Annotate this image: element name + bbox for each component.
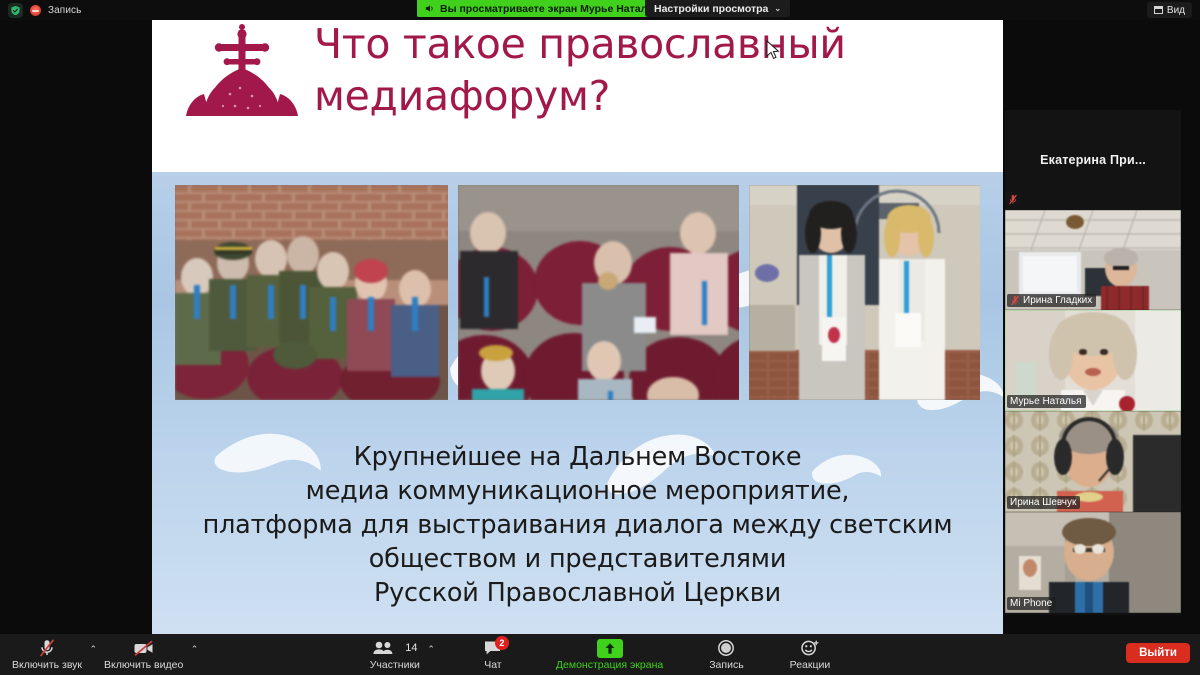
top-bar: Запись Вы просматриваете экран Мурье Нат… xyxy=(0,0,1200,20)
video-tile-label: Ирина Гладких xyxy=(1007,294,1096,307)
photo-audience-seats xyxy=(458,185,739,400)
share-screen-label: Демонстрация экрана xyxy=(556,659,663,671)
view-settings-button[interactable]: Настройки просмотра ⌄ xyxy=(645,0,790,17)
toolbar-center-group: 14 Участники ⌃ 2 Чат xyxy=(0,634,1200,675)
video-tile-label: Ирина Шевчук xyxy=(1007,496,1080,509)
leave-meeting-button[interactable]: Выйти xyxy=(1126,643,1190,663)
orthodox-cross-lotus-logo xyxy=(182,22,302,132)
slide-photo-row xyxy=(175,185,980,400)
video-tile-name: Ирина Гладких xyxy=(1023,295,1092,306)
chat-button[interactable]: 2 Чат xyxy=(470,634,516,675)
record-button[interactable]: Запись xyxy=(703,634,749,675)
chevron-down-icon: ⌄ xyxy=(774,4,781,13)
video-tile-ekaterina[interactable]: Екатерина При... xyxy=(1005,110,1181,210)
zoom-meeting-window: Запись Вы просматриваете экран Мурье Нат… xyxy=(0,0,1200,675)
mouse-pointer-icon xyxy=(766,40,780,60)
sharing-banner-text: Вы просматриваете экран Мурье Наталья xyxy=(440,3,660,15)
video-tile-name: Mi Phone xyxy=(1010,598,1052,609)
shared-screen-stage[interactable]: Что такое православный медиафорум? xyxy=(152,0,1003,634)
speaker-icon xyxy=(424,3,435,14)
people-icon: 14 xyxy=(372,639,417,658)
video-tile-name: Ирина Шевчук xyxy=(1010,497,1076,508)
video-tile-name: Екатерина При... xyxy=(1040,153,1146,167)
participant-video-strip[interactable]: Екатерина При... Ирина Гладких Мурье Нат… xyxy=(1005,110,1181,615)
microphone-muted-icon xyxy=(1006,192,1020,206)
record-dot-icon[interactable] xyxy=(30,5,41,16)
sharing-banner: Вы просматриваете экран Мурье Наталья xyxy=(417,0,669,17)
grid-view-icon xyxy=(1154,6,1163,14)
video-tile-label: Мурье Наталья xyxy=(1007,395,1086,408)
meeting-toolbar: Включить звук ⌃ Включить видео ⌃ xyxy=(0,634,1200,675)
reactions-button[interactable]: Реакции xyxy=(784,634,837,675)
record-label: Запись xyxy=(709,659,743,671)
video-tile-mi-phone[interactable]: Mi Phone xyxy=(1005,512,1181,613)
share-screen-up-arrow-icon xyxy=(597,639,623,658)
participants-count: 14 xyxy=(405,642,417,654)
view-button-label: Вид xyxy=(1167,5,1185,16)
photo-audience-veterans xyxy=(175,185,448,400)
video-tile-irina-shevchuk[interactable]: Ирина Шевчук xyxy=(1005,411,1181,512)
video-tile-irina-gladkih[interactable]: Ирина Гладких xyxy=(1005,210,1181,310)
share-screen-button[interactable]: Демонстрация экрана xyxy=(550,634,669,675)
view-settings-label: Настройки просмотра xyxy=(654,3,768,15)
participants-caret[interactable]: ⌃ xyxy=(427,644,435,655)
video-tile-label: Mi Phone xyxy=(1007,597,1056,610)
participants-button[interactable]: 14 Участники ⌃ xyxy=(364,634,426,675)
recording-indicator-group: Запись xyxy=(8,3,81,18)
chat-label: Чат xyxy=(484,659,501,671)
recording-label: Запись xyxy=(48,5,81,16)
presentation-slide: Что такое православный медиафорум? xyxy=(152,0,1003,634)
participants-label: Участники xyxy=(370,659,420,671)
record-circle-icon xyxy=(717,639,735,658)
slide-body-text: Крупнейшее на Дальнем Востоке медиа комм… xyxy=(152,440,1003,610)
shield-check-icon[interactable] xyxy=(8,3,23,18)
photo-two-women-outdoors xyxy=(749,185,980,400)
smiley-reactions-icon xyxy=(800,639,820,658)
microphone-muted-icon xyxy=(1010,295,1020,306)
video-tile-name: Мурье Наталья xyxy=(1010,396,1082,407)
chat-unread-badge: 2 xyxy=(495,636,509,650)
reactions-label: Реакции xyxy=(790,659,831,671)
slide-title: Что такое православный медиафорум? xyxy=(314,18,1003,123)
video-tile-murie-natalya[interactable]: Мурье Наталья xyxy=(1005,310,1181,411)
view-button[interactable]: Вид xyxy=(1147,2,1192,18)
